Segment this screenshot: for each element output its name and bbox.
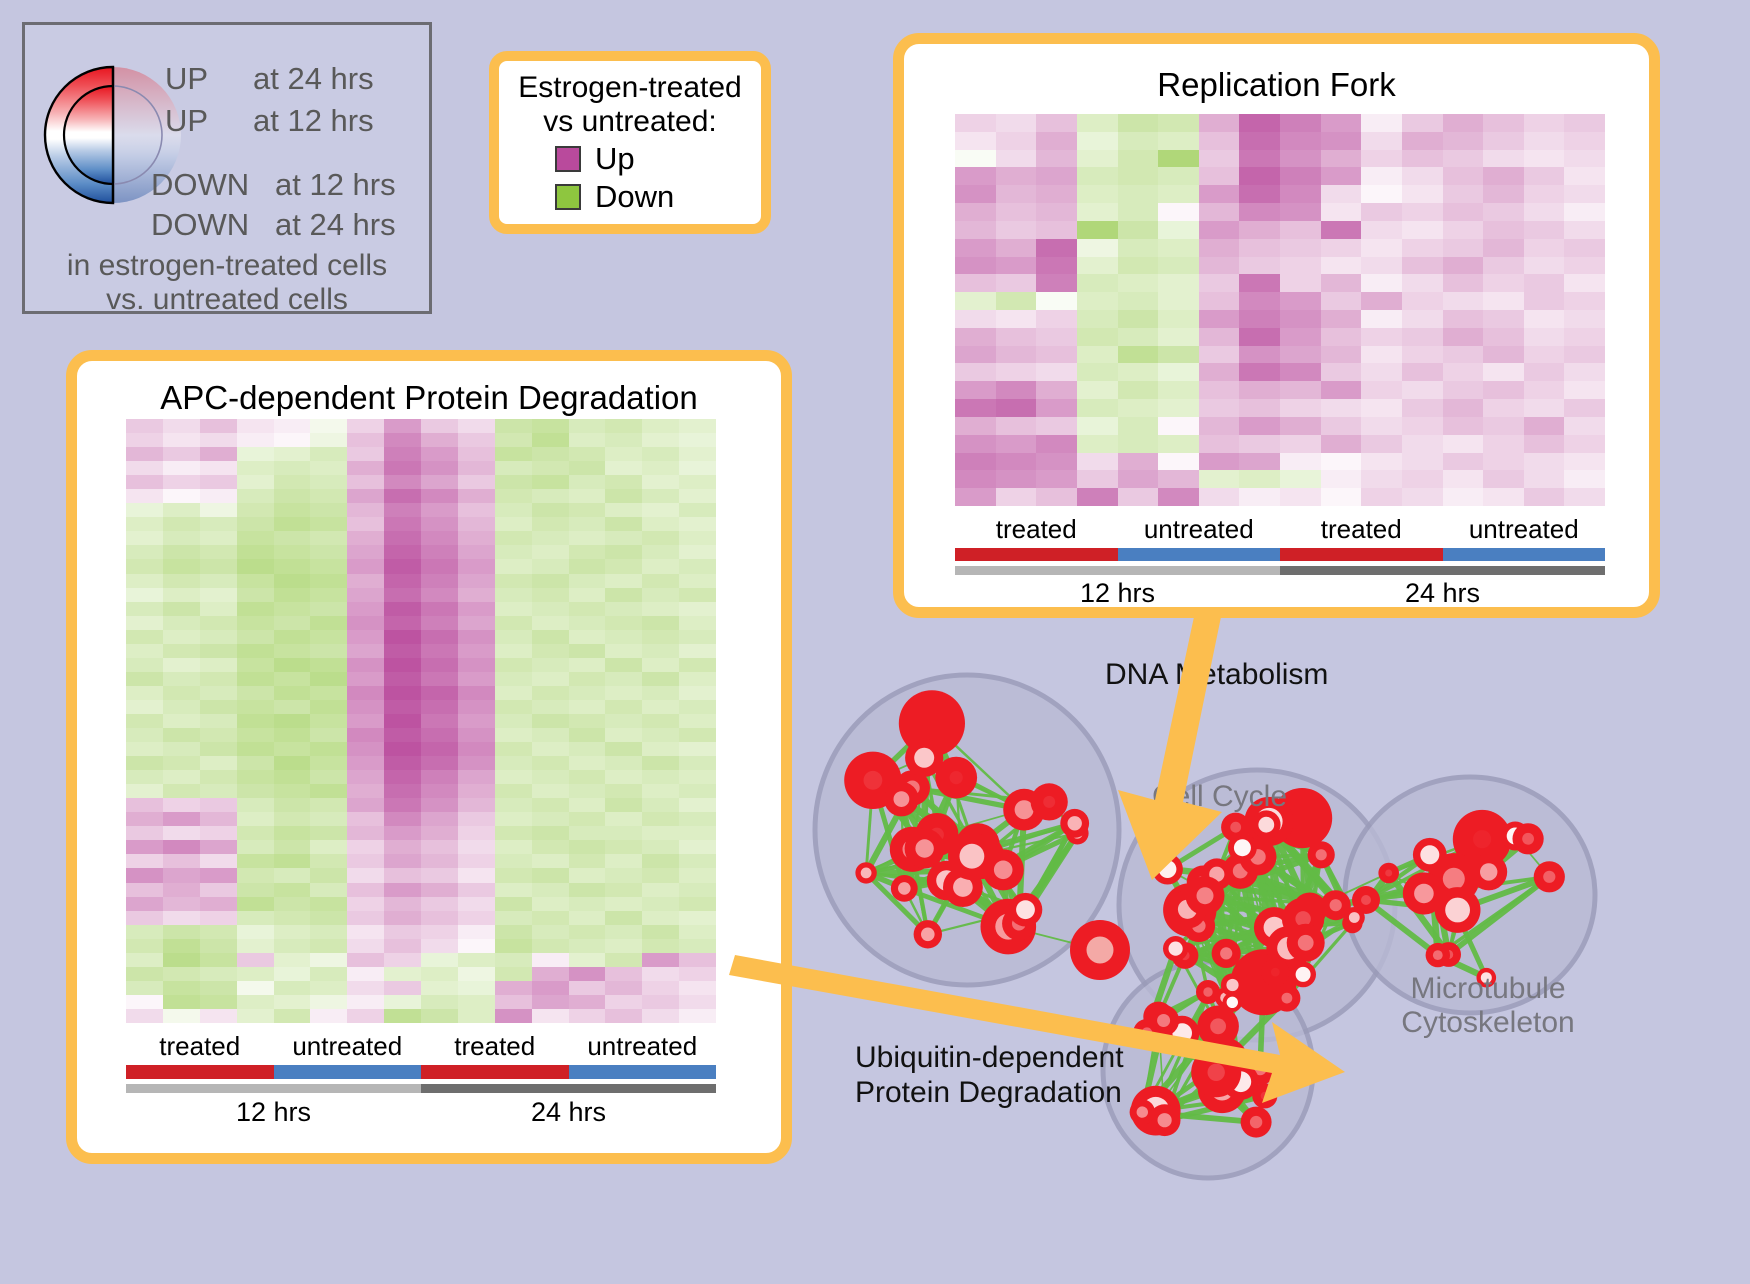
heatmap-cell xyxy=(1280,292,1321,310)
heatmap-cell xyxy=(642,798,679,812)
heatmap-cell xyxy=(310,447,347,461)
heatmap-cell xyxy=(200,658,237,672)
heatmap-cell xyxy=(642,489,679,503)
heatmap-cell xyxy=(1077,114,1118,132)
heatmap-cell xyxy=(126,939,163,953)
heatmap-cell xyxy=(163,489,200,503)
heatmap-cell xyxy=(421,630,458,644)
heatmap-cell xyxy=(126,868,163,882)
heatmap-cell xyxy=(163,911,200,925)
heatmap-cell xyxy=(200,447,237,461)
heatmap-cell xyxy=(458,981,495,995)
heatmap-cell xyxy=(200,756,237,770)
heatmap-cell xyxy=(200,812,237,826)
heatmap-cell xyxy=(1443,470,1484,488)
heatmap-cell xyxy=(1402,185,1443,203)
heatmap-cell xyxy=(200,559,237,573)
heatmap-cell xyxy=(495,742,532,756)
down-label: Down xyxy=(595,179,674,215)
ring-label-up-24: UP xyxy=(165,61,208,97)
heatmap-cell xyxy=(1321,435,1362,453)
heatmap-cell xyxy=(1036,150,1077,168)
network-node[interactable] xyxy=(1470,853,1507,890)
heatmap-cell xyxy=(1402,381,1443,399)
heatmap-cell xyxy=(163,588,200,602)
heatmap-cell xyxy=(237,756,274,770)
heatmap-cell xyxy=(532,840,569,854)
heatmap-cell xyxy=(1199,488,1240,506)
heatmap-cell xyxy=(347,714,384,728)
cond-label-1: untreated xyxy=(274,1031,422,1062)
heatmap-cell xyxy=(532,812,569,826)
heatmap-cell xyxy=(384,953,421,967)
time-colorbar-apc xyxy=(126,1084,716,1093)
network-node[interactable] xyxy=(1261,958,1289,986)
heatmap-cell xyxy=(532,658,569,672)
bar-time-24 xyxy=(421,1084,716,1093)
heatmap-cell xyxy=(163,728,200,742)
network-node[interactable] xyxy=(1228,833,1257,862)
heatmap-cell xyxy=(1199,185,1240,203)
heatmap-cell xyxy=(996,239,1037,257)
heatmap-cell xyxy=(458,672,495,686)
heatmap-cell xyxy=(996,203,1037,221)
node-inner-core xyxy=(1068,816,1082,830)
heatmap-cell xyxy=(1524,150,1565,168)
heatmap-cell xyxy=(421,644,458,658)
heatmap-cell xyxy=(126,770,163,784)
heatmap-cell xyxy=(1564,381,1605,399)
heatmap-cell xyxy=(1280,328,1321,346)
heatmap-cell xyxy=(1443,488,1484,506)
network-node[interactable] xyxy=(1513,823,1544,854)
network-node[interactable] xyxy=(1223,993,1242,1012)
heatmap-cell xyxy=(1443,203,1484,221)
heatmap-cell xyxy=(1199,399,1240,417)
node-inner-core xyxy=(1282,993,1293,1004)
heatmap-cell xyxy=(310,939,347,953)
heatmap-cell xyxy=(421,967,458,981)
heatmap-cell xyxy=(310,826,347,840)
heatmap-cell xyxy=(126,531,163,545)
heatmap-cell xyxy=(347,686,384,700)
network-node[interactable] xyxy=(914,920,942,948)
heatmap-cell xyxy=(347,658,384,672)
heatmap-cell xyxy=(237,967,274,981)
heatmap-cell xyxy=(163,770,200,784)
heatmap-cell xyxy=(1443,453,1484,471)
heatmap-cell xyxy=(569,897,606,911)
network-node[interactable] xyxy=(1378,863,1399,884)
heatmap-cell xyxy=(679,461,716,475)
heatmap-cell xyxy=(200,630,237,644)
heatmap-cell xyxy=(1280,203,1321,221)
heatmap-cell xyxy=(200,686,237,700)
heatmap-cell xyxy=(421,545,458,559)
heatmap-cell xyxy=(1199,328,1240,346)
node-inner-core xyxy=(1234,839,1251,856)
heatmap-cell xyxy=(569,475,606,489)
heatmap-cell xyxy=(1036,132,1077,150)
heatmap-cell xyxy=(569,686,606,700)
heatmap-cell xyxy=(1564,239,1605,257)
heatmap-cell xyxy=(1361,310,1402,328)
heatmap-cell xyxy=(532,630,569,644)
network-node[interactable] xyxy=(905,829,945,869)
heatmap-cell xyxy=(200,433,237,447)
condition-labels-apc: treated untreated treated untreated xyxy=(126,1031,716,1062)
heatmap-cell xyxy=(605,419,642,433)
heatmap-cell xyxy=(274,489,311,503)
network-node[interactable] xyxy=(1070,920,1130,980)
heatmap-cell xyxy=(1402,239,1443,257)
network-node[interactable] xyxy=(1163,936,1188,961)
heatmap-cell xyxy=(1483,114,1524,132)
heatmap-cell xyxy=(1564,185,1605,203)
heatmap-cell xyxy=(1402,257,1443,275)
network-node[interactable] xyxy=(1152,854,1183,885)
heatmap-cell xyxy=(163,995,200,1009)
heatmap-cell xyxy=(1158,203,1199,221)
heatmap-cell xyxy=(1280,239,1321,257)
network-node[interactable] xyxy=(1252,810,1281,839)
heatmap-cell xyxy=(200,419,237,433)
network-node[interactable] xyxy=(891,875,918,902)
heatmap-cell xyxy=(1158,435,1199,453)
heatmap-cell xyxy=(642,531,679,545)
heatmap-cell xyxy=(1443,221,1484,239)
heatmap-cell xyxy=(1361,328,1402,346)
heatmap-cell xyxy=(569,925,606,939)
heatmap-cell xyxy=(996,470,1037,488)
network-node[interactable] xyxy=(1308,841,1335,868)
network-node[interactable] xyxy=(1241,1107,1272,1138)
heatmap-cell xyxy=(605,953,642,967)
updown-legend-title-line1: Estrogen-treated xyxy=(518,71,741,105)
heatmap-cell xyxy=(1280,257,1321,275)
heatmap-cell xyxy=(532,574,569,588)
heatmap-cell xyxy=(996,310,1037,328)
heatmap-cell xyxy=(384,756,421,770)
down-swatch-icon xyxy=(555,184,581,210)
heatmap-cell xyxy=(237,981,274,995)
heatmap-cell xyxy=(1321,310,1362,328)
heatmap-cell xyxy=(996,132,1037,150)
heatmap-cell xyxy=(605,574,642,588)
heatmap-cell xyxy=(1361,185,1402,203)
heatmap-cell xyxy=(1036,417,1077,435)
network-node[interactable] xyxy=(1130,1099,1155,1124)
heatmap-cell xyxy=(421,461,458,475)
up-swatch-icon xyxy=(555,146,581,172)
heatmap-cell xyxy=(679,700,716,714)
heatmap-cell xyxy=(458,967,495,981)
node-inner-core xyxy=(1445,898,1470,923)
heatmap-cell xyxy=(605,559,642,573)
heatmap-cell xyxy=(532,616,569,630)
heatmap-cell xyxy=(458,883,495,897)
heatmap-cell xyxy=(1524,435,1565,453)
heatmap-cell xyxy=(163,883,200,897)
heatmap-cell xyxy=(1239,167,1280,185)
heatmap-cell xyxy=(458,911,495,925)
network-node[interactable] xyxy=(1009,893,1043,927)
heatmap-cell xyxy=(1077,221,1118,239)
heatmap-cell xyxy=(679,883,716,897)
network-node[interactable] xyxy=(1060,809,1089,838)
heatmap-cell xyxy=(1443,346,1484,364)
heatmap-cell xyxy=(1036,114,1077,132)
heatmap-cell xyxy=(996,346,1037,364)
heatmap-cell xyxy=(996,381,1037,399)
heatmap-cell xyxy=(605,925,642,939)
heatmap-cell xyxy=(569,854,606,868)
network-node[interactable] xyxy=(1186,876,1225,915)
heatmap-cell xyxy=(569,545,606,559)
heatmap-cell xyxy=(126,897,163,911)
heatmap-cell xyxy=(163,700,200,714)
heatmap-cell xyxy=(569,559,606,573)
heatmap-cell xyxy=(384,531,421,545)
heatmap-cell xyxy=(384,939,421,953)
heatmap-cell xyxy=(163,686,200,700)
heatmap-cell xyxy=(495,995,532,1009)
heatmap-cell xyxy=(569,489,606,503)
network-node[interactable] xyxy=(1426,943,1450,967)
heatmap-cell xyxy=(495,1009,532,1023)
heatmap-cell xyxy=(569,812,606,826)
heatmap-cell xyxy=(679,840,716,854)
heatmap-cell xyxy=(1158,239,1199,257)
heatmap-cell xyxy=(310,658,347,672)
cond-label-3: untreated xyxy=(569,1031,717,1062)
heatmap-cell xyxy=(274,700,311,714)
heatmap-cell xyxy=(458,728,495,742)
heatmap-cell xyxy=(1239,150,1280,168)
heatmap-cell xyxy=(1118,132,1159,150)
network-node[interactable] xyxy=(1196,980,1220,1004)
heatmap-cell xyxy=(495,545,532,559)
heatmap-cell xyxy=(421,686,458,700)
heatmap-cell xyxy=(532,644,569,658)
heatmap-cell xyxy=(1118,221,1159,239)
network-node[interactable] xyxy=(1352,886,1380,914)
heatmap-cell xyxy=(996,399,1037,417)
network-node[interactable] xyxy=(1534,861,1565,892)
heatmap-cell xyxy=(310,602,347,616)
heatmap-cell xyxy=(347,419,384,433)
heatmap-cell xyxy=(1077,167,1118,185)
network-node[interactable] xyxy=(1031,783,1068,820)
heatmap-cell xyxy=(1118,488,1159,506)
heatmap-cell xyxy=(1402,453,1443,471)
heatmap-cell xyxy=(642,714,679,728)
heatmap-cell xyxy=(126,826,163,840)
heatmap-cell xyxy=(1158,132,1199,150)
node-inner-core xyxy=(1227,997,1238,1008)
heatmap-cell xyxy=(1443,292,1484,310)
heatmap-cell xyxy=(642,742,679,756)
heatmap-cell xyxy=(421,812,458,826)
heatmap-cell xyxy=(532,700,569,714)
heatmap-cell xyxy=(237,714,274,728)
network-node[interactable] xyxy=(855,862,876,883)
heatmap-cell xyxy=(347,770,384,784)
network-node[interactable] xyxy=(1212,939,1241,968)
heatmap-cell xyxy=(310,925,347,939)
heatmap-cell xyxy=(237,602,274,616)
heatmap-cell xyxy=(126,981,163,995)
network-node[interactable] xyxy=(1287,924,1325,962)
heatmap-cell xyxy=(495,883,532,897)
heatmap-cell xyxy=(1564,488,1605,506)
heatmap-cell xyxy=(495,517,532,531)
heatmap-cell xyxy=(1483,470,1524,488)
network-node[interactable] xyxy=(905,739,943,777)
condition-colorbar-replication xyxy=(955,548,1605,561)
heatmap-cell xyxy=(384,868,421,882)
heatmap-cell xyxy=(421,995,458,1009)
heatmap-cell xyxy=(237,868,274,882)
heatmap-cell xyxy=(274,1009,311,1023)
heatmap-cell xyxy=(384,686,421,700)
heatmap-cell xyxy=(1280,274,1321,292)
heatmap-cell xyxy=(532,897,569,911)
network-node[interactable] xyxy=(948,832,996,880)
node-inner-core xyxy=(1330,899,1342,911)
heatmap-cell xyxy=(458,714,495,728)
heatmap-cell xyxy=(126,658,163,672)
heatmap-cell xyxy=(421,574,458,588)
heatmap-cell xyxy=(274,854,311,868)
heatmap-cell xyxy=(1077,453,1118,471)
heatmap-cell xyxy=(532,883,569,897)
heatmap-cell xyxy=(679,981,716,995)
heatmap-cell xyxy=(1361,435,1402,453)
heatmap-cell xyxy=(126,461,163,475)
heatmap-cell xyxy=(347,840,384,854)
heatmap-cell xyxy=(679,588,716,602)
heatmap-cell xyxy=(1118,381,1159,399)
heatmap-cell xyxy=(421,840,458,854)
heatmap-cell xyxy=(384,644,421,658)
heatmap-cell xyxy=(1361,114,1402,132)
heatmap-cell xyxy=(605,644,642,658)
heatmap-cell xyxy=(569,588,606,602)
heatmap-cell xyxy=(237,700,274,714)
heatmap-cell xyxy=(679,489,716,503)
heatmap-cell xyxy=(1199,310,1240,328)
heatmap-cell xyxy=(569,630,606,644)
time-label-24: 24 hrs xyxy=(421,1097,716,1128)
heatmap-cell xyxy=(495,925,532,939)
network-node[interactable] xyxy=(1413,838,1447,872)
node-inner-core xyxy=(1203,987,1212,996)
heatmap-cell xyxy=(163,574,200,588)
heatmap-cell xyxy=(532,475,569,489)
heatmap-cell xyxy=(163,784,200,798)
heatmap-cell xyxy=(237,517,274,531)
network-node[interactable] xyxy=(1273,985,1300,1012)
heatmap-cell xyxy=(1199,435,1240,453)
heatmap-cell xyxy=(274,644,311,658)
heatmap-cell xyxy=(421,854,458,868)
heatmap-cell xyxy=(1077,488,1118,506)
heatmap-cell xyxy=(237,826,274,840)
heatmap-cell xyxy=(532,559,569,573)
heatmap-cell xyxy=(384,897,421,911)
heatmap-cell xyxy=(1564,221,1605,239)
heatmap-cell xyxy=(1321,346,1362,364)
heatmap-cell xyxy=(679,574,716,588)
heatmap-cell xyxy=(996,488,1037,506)
heatmap-cell xyxy=(274,447,311,461)
heatmap-cell xyxy=(1239,239,1280,257)
network-node[interactable] xyxy=(1148,1005,1179,1036)
heatmap-cell xyxy=(605,854,642,868)
heatmap-cell xyxy=(1077,399,1118,417)
heatmap-cell xyxy=(347,531,384,545)
network-node[interactable] xyxy=(1191,1047,1241,1097)
heatmap-cell xyxy=(200,840,237,854)
heatmap-cell xyxy=(347,742,384,756)
heatmap-cell xyxy=(1239,417,1280,435)
heatmap-cell xyxy=(605,489,642,503)
heatmap-cell xyxy=(421,911,458,925)
network-node[interactable] xyxy=(884,782,919,817)
heatmap-cell xyxy=(1239,310,1280,328)
node-inner-core xyxy=(898,882,911,895)
heatmap-cell xyxy=(458,756,495,770)
heatmap-cell xyxy=(1036,470,1077,488)
heatmap-cell xyxy=(532,588,569,602)
heatmap-cell xyxy=(384,967,421,981)
heatmap-cell xyxy=(126,588,163,602)
node-inner-core xyxy=(1159,860,1177,878)
heatmap-cell xyxy=(458,812,495,826)
heatmap-cell xyxy=(642,588,679,602)
heatmap-cell xyxy=(1199,363,1240,381)
heatmap-cell xyxy=(1239,346,1280,364)
heatmap-cell xyxy=(310,911,347,925)
heatmap-cell xyxy=(200,967,237,981)
heatmap-cell xyxy=(347,911,384,925)
heatmap-cell xyxy=(1077,346,1118,364)
heatmap-cell xyxy=(1036,328,1077,346)
network-node[interactable] xyxy=(1403,872,1445,914)
heatmap-cell xyxy=(1524,257,1565,275)
heatmap-cell xyxy=(679,826,716,840)
heatmap-cell xyxy=(605,826,642,840)
heatmap-cell xyxy=(1118,346,1159,364)
heatmap-cell xyxy=(495,840,532,854)
heatmap-cell xyxy=(1239,453,1280,471)
heatmap-cell xyxy=(642,953,679,967)
heatmap-cell xyxy=(126,784,163,798)
heatmap-cell xyxy=(458,475,495,489)
cluster-label-ubiquitin: Ubiquitin-dependent Protein Degradation xyxy=(855,1040,1124,1111)
heatmap-cell xyxy=(200,489,237,503)
heatmap-cell xyxy=(1483,292,1524,310)
heatmap-cell xyxy=(274,868,311,882)
heatmap-cell xyxy=(605,967,642,981)
heatmap-cell xyxy=(1158,167,1199,185)
heatmap-cell xyxy=(458,588,495,602)
heatmap-cell xyxy=(532,868,569,882)
heatmap-cell xyxy=(1402,203,1443,221)
heatmap-cell xyxy=(384,616,421,630)
heatmap-cell xyxy=(1443,310,1484,328)
